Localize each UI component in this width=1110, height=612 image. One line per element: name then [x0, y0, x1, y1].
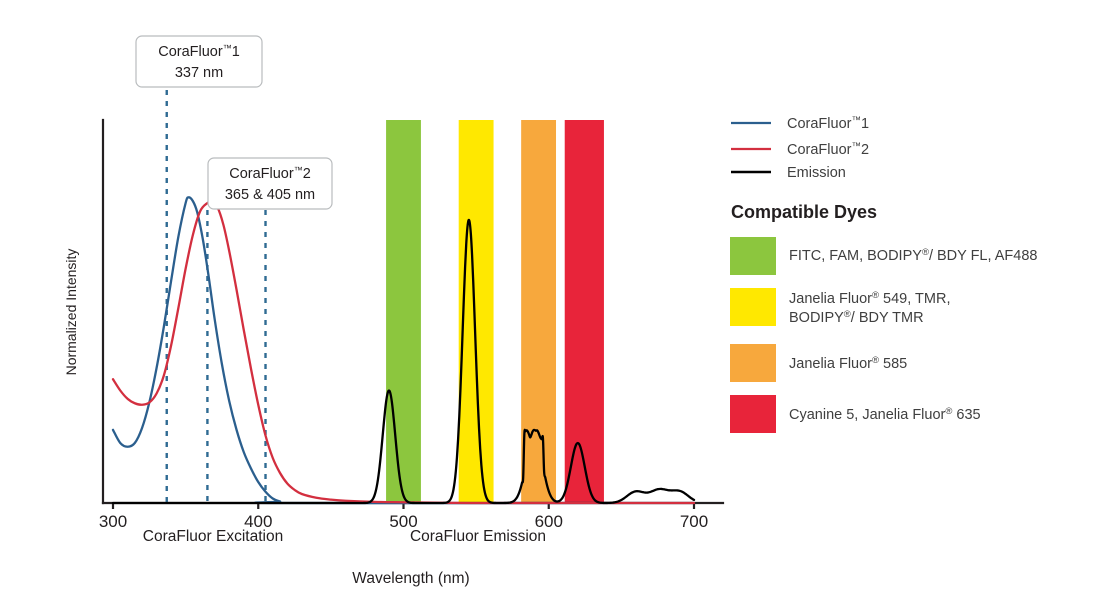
- dye-label-yellow-line1: Janelia Fluor® 549, TMR,: [789, 290, 950, 308]
- x-axis-label: Wavelength (nm): [352, 570, 469, 587]
- legend-heading-compatible-dyes: Compatible Dyes: [731, 202, 877, 222]
- dye-swatch-yellow: [730, 288, 776, 326]
- legend-line-item-0[interactable]: CoraFluor™1: [731, 115, 869, 132]
- legend-line-item-2[interactable]: Emission: [731, 165, 846, 181]
- dye-label-green: FITC, FAM, BODIPY®/ BDY FL, AF488: [789, 247, 1037, 265]
- dye-legend-item-1[interactable]: Janelia Fluor® 549, TMR, BODIPY®/ BDY TM…: [730, 288, 950, 326]
- dye-swatch-green: [730, 237, 776, 275]
- legend-line-item-1[interactable]: CoraFluor™2: [731, 141, 869, 158]
- legend-label-emission: Emission: [787, 165, 846, 181]
- legend-label-corafluor2: CoraFluor™2: [787, 141, 869, 158]
- dye-legend-item-2[interactable]: Janelia Fluor® 585: [730, 344, 907, 382]
- legend-label-corafluor1: CoraFluor™1: [787, 115, 869, 132]
- dye-label-yellow-line2: BODIPY®/ BDY TMR: [789, 309, 924, 327]
- dye-band-0: [386, 120, 421, 503]
- dye-label-orange: Janelia Fluor® 585: [789, 355, 907, 373]
- y-axis-label: Normalized Intensity: [63, 249, 79, 376]
- region-label-emission: CoraFluor Emission: [410, 528, 546, 545]
- dye-legend-item-0[interactable]: FITC, FAM, BODIPY®/ BDY FL, AF488: [730, 237, 1037, 275]
- dye-band-2: [521, 120, 556, 503]
- legend: CoraFluor™1 CoraFluor™2 Emission Compati…: [730, 115, 1037, 433]
- callout-corafluor2-value: 365 & 405 nm: [225, 187, 315, 203]
- dye-band-3: [565, 120, 604, 503]
- dye-label-red: Cyanine 5, Janelia Fluor® 635: [789, 406, 981, 424]
- tick-label-300: 300: [99, 512, 127, 531]
- dye-swatch-orange: [730, 344, 776, 382]
- compatible-dye-bands: [386, 120, 604, 503]
- callout-corafluor1: CoraFluor™1 337 nm: [136, 36, 262, 87]
- region-label-excitation: CoraFluor Excitation: [143, 528, 283, 545]
- tick-label-700: 700: [680, 512, 708, 531]
- callout-corafluor1-value: 337 nm: [175, 65, 223, 81]
- dye-legend-item-3[interactable]: Cyanine 5, Janelia Fluor® 635: [730, 395, 981, 433]
- dye-swatch-red: [730, 395, 776, 433]
- callout-corafluor2: CoraFluor™2 365 & 405 nm: [208, 158, 332, 209]
- spectra-figure: Normalized Intensity 300400500600700 Cor…: [0, 0, 1110, 612]
